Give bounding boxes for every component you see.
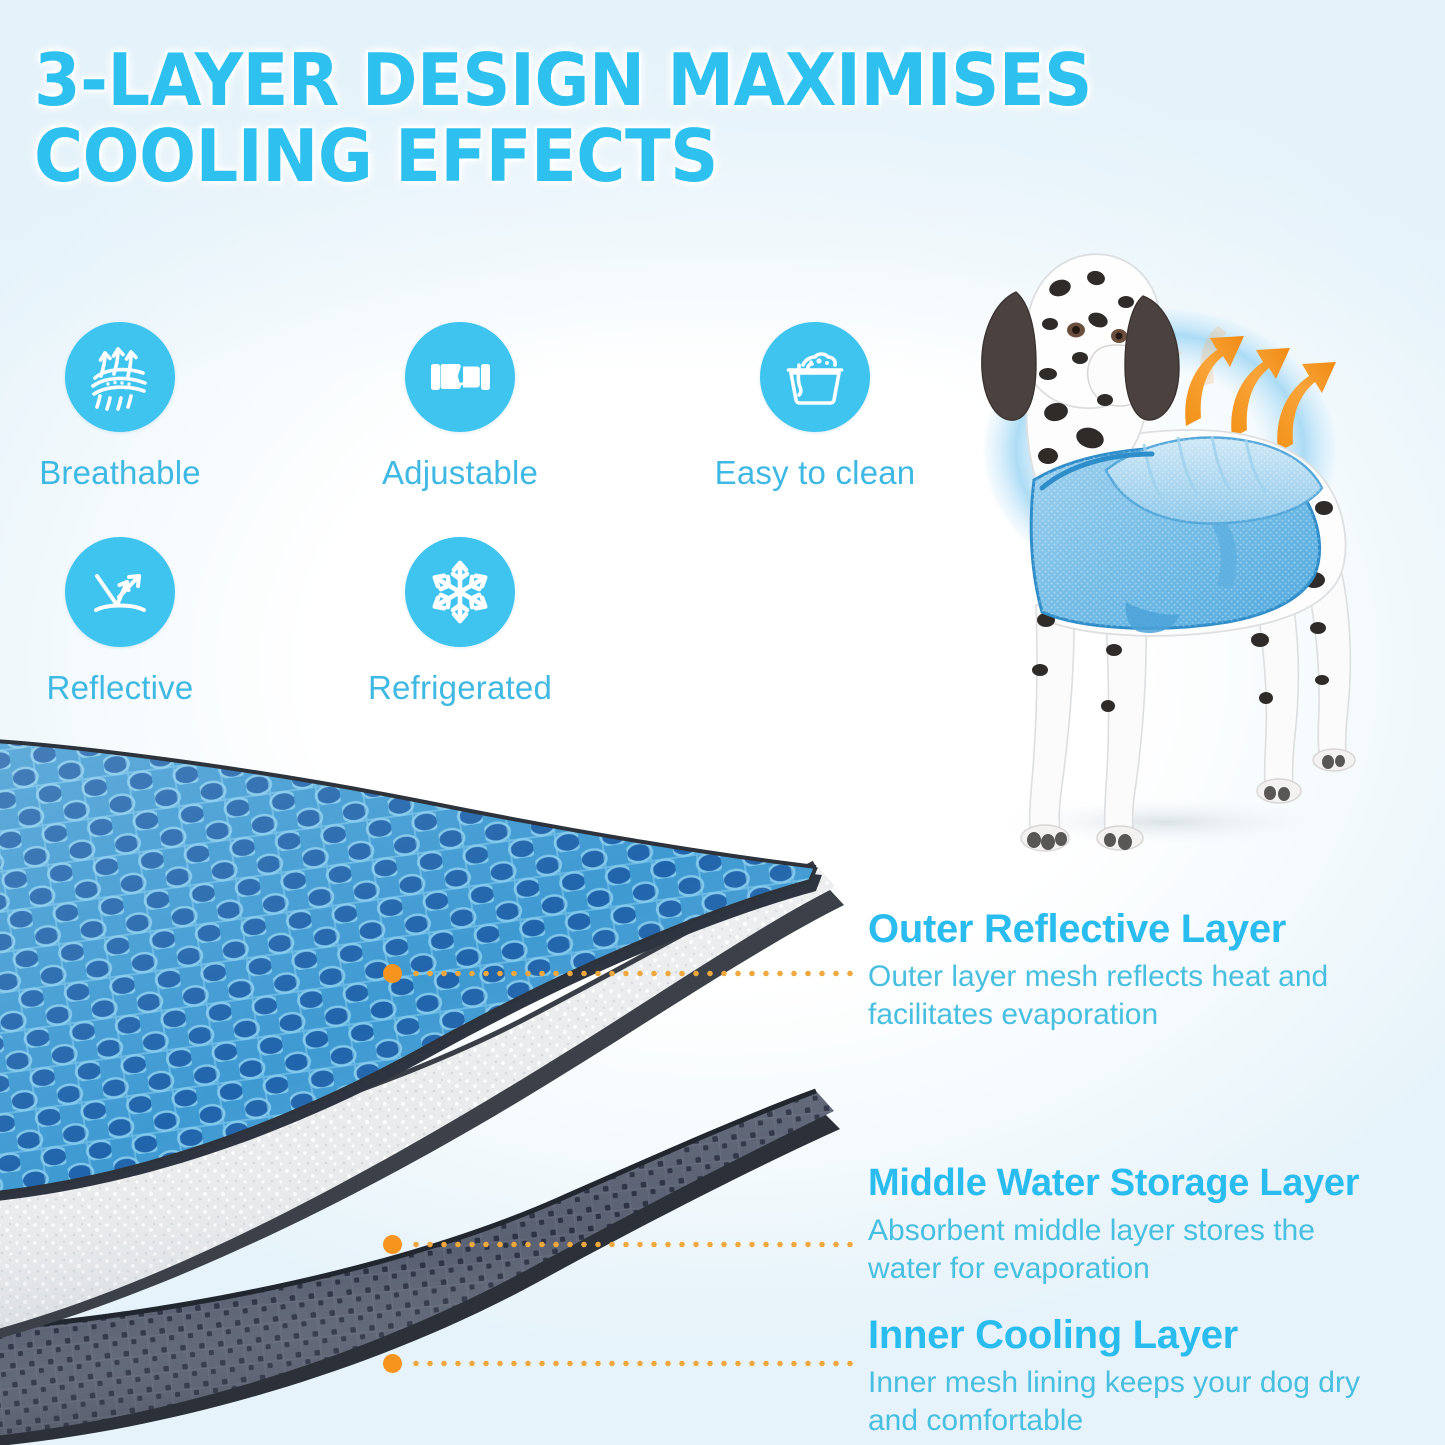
leader-dotted-line [409,1241,853,1248]
callout-body: Outer layer mesh reflects heat and facil… [868,958,1338,1034]
cooling-vest [1031,436,1322,633]
feature-label: Easy to clean [685,454,945,492]
feature-easy-to-clean: Easy to clean [685,322,945,492]
feature-list: Breathable [0,322,980,752]
feature-label: Reflective [0,669,250,707]
leader-line-middle [383,1234,853,1254]
leader-anchor-dot [383,1354,402,1373]
dalmatian-dog [982,254,1355,851]
snowflake-icon [405,537,515,647]
three-layer-illustration [0,735,880,1445]
feature-label: Refrigerated [330,669,590,707]
feature-breathable: Breathable [0,322,250,492]
leader-line-inner [383,1353,853,1373]
feature-adjustable: Adjustable [330,322,590,492]
leader-dotted-line [409,970,853,977]
feature-refrigerated: Refrigerated [330,537,590,707]
light-reflection-arrows-icon [65,537,175,647]
feature-reflective: Reflective [0,537,250,707]
callout-body: Absorbent middle layer stores the water … [868,1212,1338,1288]
feature-label: Breathable [0,454,250,492]
wash-basin-suds-icon [760,322,870,432]
feature-row-1: Breathable [0,322,980,537]
callout-outer-reflective-layer: Outer Reflective Layer Outer layer mesh … [868,906,1338,1034]
leader-dotted-line [409,1360,853,1367]
callout-middle-water-storage-layer: Middle Water Storage Layer Absorbent mid… [868,1160,1359,1288]
callout-heading: Inner Cooling Layer [868,1312,1368,1358]
callout-heading: Outer Reflective Layer [868,906,1338,952]
leader-anchor-dot [383,964,402,983]
callout-inner-cooling-layer: Inner Cooling Layer Inner mesh lining ke… [868,1312,1368,1440]
breathable-fabric-airflow-icon [65,322,175,432]
buckle-clip-icon [405,322,515,432]
product-photo-dog-in-vest [930,150,1430,860]
leader-line-outer [383,963,853,983]
infographic-root: 3-LAYER DESIGN MAXIMISES COOLING EFFECTS [0,0,1445,1445]
leader-anchor-dot [383,1235,402,1254]
feature-label: Adjustable [330,454,590,492]
feature-row-2: Reflective [0,537,980,752]
callout-body: Inner mesh lining keeps your dog dry and… [868,1364,1368,1440]
callout-heading: Middle Water Storage Layer [868,1160,1359,1206]
